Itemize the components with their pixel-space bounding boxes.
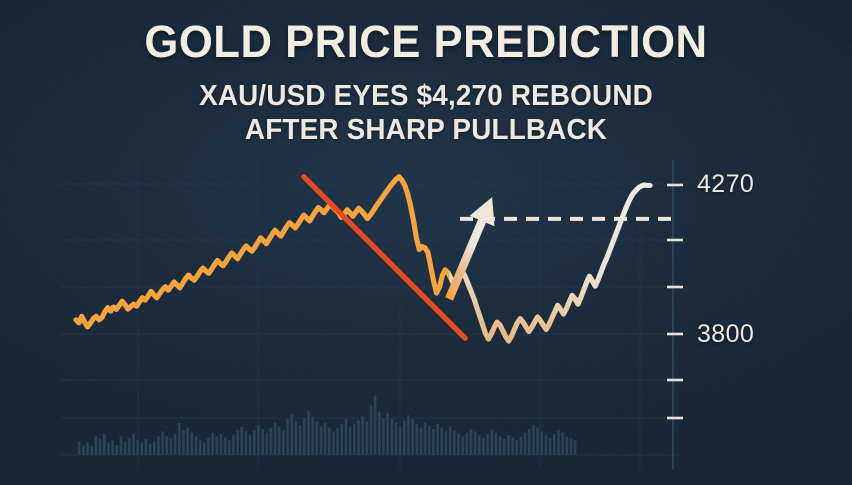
y-axis-label-low: 3800: [697, 320, 754, 349]
chart-annotations: [304, 177, 673, 338]
volume-bars: [78, 395, 576, 455]
headline-block: GOLD PRICE PREDICTION XAU/USD EYES $4,27…: [0, 16, 852, 147]
page-title: GOLD PRICE PREDICTION: [13, 16, 839, 68]
subtitle-line-1: XAU/USD EYES $4,270 REBOUND: [17, 79, 835, 113]
y-axis-label-high: 4270: [697, 170, 754, 199]
gold-price-prediction-graphic: GOLD PRICE PREDICTION XAU/USD EYES $4,27…: [0, 0, 852, 485]
price-line: [76, 177, 650, 341]
subtitle-line-2: AFTER SHARP PULLBACK: [17, 113, 835, 147]
